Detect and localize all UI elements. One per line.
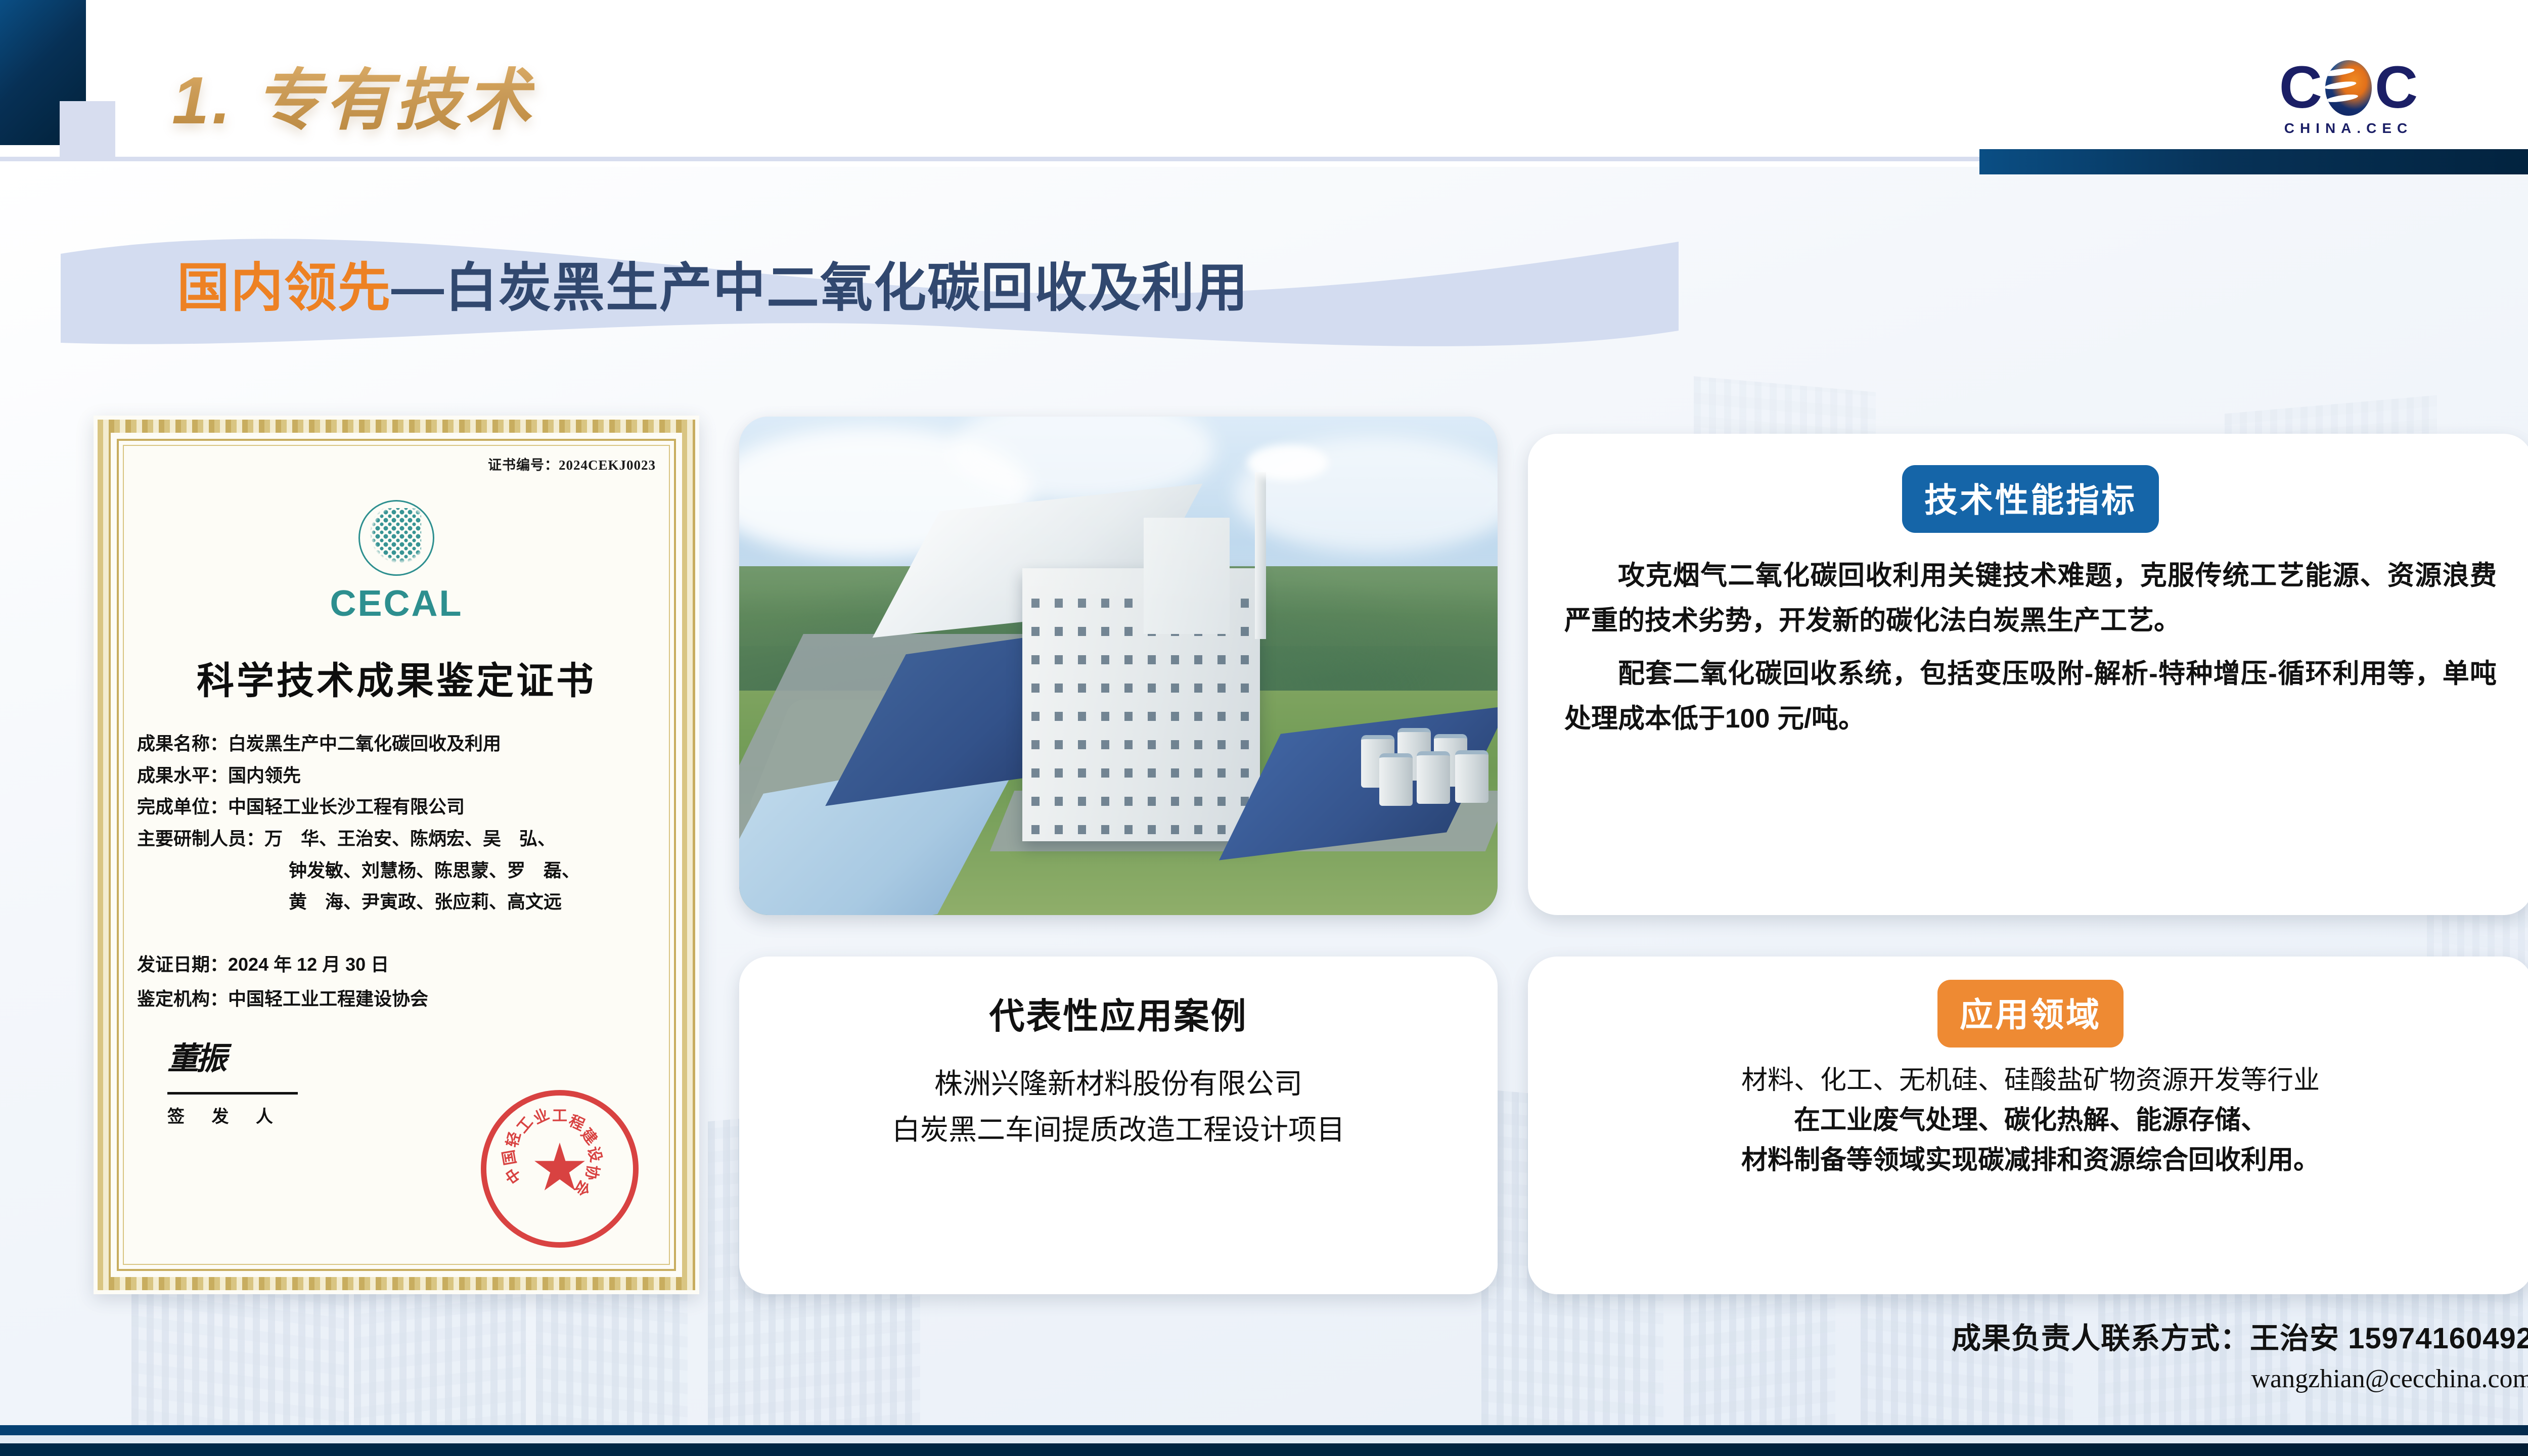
application-domain-body: 材料、化工、无机硅、硅酸盐矿物资源开发等行业 在工业废气处理、碳化热解、能源存储…: [1528, 1048, 2528, 1180]
cecal-emblem-icon: [358, 500, 434, 576]
official-seal-icon: 中国轻工业工程建设协会: [481, 1090, 639, 1248]
issue-date-row: 发证日期：2024 年 12 月 30 日: [137, 947, 656, 982]
tech-paragraph: 攻克烟气二氧化碳回收利用关键技术难题，克服传统工艺能源、资源浪费严重的技术劣势，…: [1564, 553, 2497, 643]
application-case-body: 株洲兴隆新材料股份有限公司 白炭黑二车间提质改造工程设计项目: [739, 1039, 1498, 1153]
authority-value: 中国轻工业工程建设协会: [228, 988, 428, 1009]
certificate-field-row: 完成单位：中国轻工业长沙工程有限公司: [137, 791, 656, 823]
certificate-fields: 成果名称：白炭黑生产中二氧化碳回收及利用 成果水平：国内领先 完成单位：中国轻工…: [137, 728, 656, 918]
issue-date-label: 发证日期：: [137, 954, 228, 975]
researchers-label: 主要研制人员：: [137, 828, 264, 849]
application-case-card: 代表性应用案例 株洲兴隆新材料股份有限公司 白炭黑二车间提质改造工程设计项目: [739, 957, 1498, 1294]
cec-logo: C C CHINA.CEC: [2265, 60, 2432, 146]
certificate-field-row: 成果水平：国内领先: [137, 760, 656, 792]
banner-rest: —白炭黑生产中二氧化碳回收及利用: [391, 259, 1249, 317]
field-label: 成果水平：: [137, 765, 228, 786]
cecal-wordmark: CECAL: [137, 583, 656, 624]
tech-indicators-card: 技术性能指标 攻克烟气二氧化碳回收利用关键技术难题，克服传统工艺能源、资源浪费严…: [1528, 434, 2528, 915]
page-title: 1. 专有技术: [172, 47, 534, 143]
domain-chip-wrap: 应用领域: [1528, 957, 2528, 1048]
seal-ring-text: 中国轻工业工程建设协会: [486, 1096, 633, 1242]
certificate-number-label: 证书编号：: [488, 458, 559, 473]
tech-paragraph: 配套二氧化碳回收系统，包括变压吸附-解析-特种增压-循环利用等，单吨处理成本低于…: [1564, 651, 2497, 741]
application-case-title: 代表性应用案例: [739, 957, 1498, 1039]
factory-aerial-photo[interactable]: [739, 417, 1498, 915]
tech-indicators-chip: 技术性能指标: [1902, 465, 2159, 533]
domain-line: 在工业废气处理、碳化热解、能源存储、: [1558, 1101, 2503, 1141]
signature-script: 董振: [167, 1030, 656, 1089]
researchers-line: 钟发敏、刘慧杨、陈思蒙、罗 磊、: [137, 855, 656, 887]
field-value: 国内领先: [228, 765, 301, 786]
cecal-dots: [366, 508, 421, 568]
case-line: 株洲兴隆新材料股份有限公司: [770, 1061, 1467, 1107]
researchers-line: 万 华、王治安、陈炳宏、吴 弘、: [264, 828, 556, 849]
field-value: 中国轻工业长沙工程有限公司: [228, 796, 465, 817]
application-domain-chip: 应用领域: [1937, 980, 2124, 1048]
application-domain-card: 应用领域 材料、化工、无机硅、硅酸盐矿物资源开发等行业 在工业废气处理、碳化热解…: [1528, 957, 2528, 1294]
logo-letter-left: C: [2279, 63, 2322, 113]
header-divider-rule: [0, 157, 2073, 161]
footer-bar-secondary: [0, 1443, 2528, 1456]
certificate-field-row: 成果名称：白炭黑生产中二氧化碳回收及利用: [137, 728, 656, 760]
authority-label: 鉴定机构：: [137, 988, 228, 1009]
field-label: 完成单位：: [137, 796, 228, 817]
contact-email-line: wangzhian@cecchina.com: [1577, 1364, 2528, 1394]
domain-line: 材料、化工、无机硅、硅酸盐矿物资源开发等行业: [1558, 1061, 2503, 1101]
authority-row: 鉴定机构：中国轻工业工程建设协会: [137, 982, 656, 1016]
case-line: 白炭黑二车间提质改造工程设计项目: [770, 1107, 1467, 1153]
certificate-researchers-row: 主要研制人员：万 华、王治安、陈炳宏、吴 弘、: [137, 823, 656, 855]
certificate-title: 科学技术成果鉴定证书: [137, 651, 656, 705]
logo-letter-right: C: [2375, 63, 2418, 113]
globe-icon: [2325, 60, 2372, 116]
field-label: 成果名称：: [137, 733, 228, 754]
footer-bar-gap: [0, 1435, 2528, 1443]
issue-date-value: 2024 年 12 月 30 日: [228, 954, 389, 975]
logo-subtitle: CHINA.CEC: [2265, 120, 2432, 136]
photo-haze-overlay: [739, 417, 1498, 915]
researchers-line: 黄 海、尹寅政、张应莉、高文远: [137, 886, 656, 918]
section-banner-ribbon: 国内领先—白炭黑生产中二氧化碳回收及利用: [61, 222, 1679, 364]
tech-chip-wrap: 技术性能指标: [1528, 434, 2528, 533]
certificate-number-row: 证书编号：2024CEKJ0023: [137, 454, 656, 474]
contact-owner-line: 成果负责人联系方式：王治安 15974160492: [1577, 1314, 2528, 1357]
domain-line: 材料制备等领域实现碳减排和资源综合回收利用。: [1558, 1141, 2503, 1180]
contact-block: 成果负责人联系方式：王治安 15974160492 wangzhian@cecc…: [1577, 1314, 2528, 1394]
banner-highlight: 国内领先: [177, 259, 391, 317]
signature-rule: [167, 1092, 298, 1095]
header-bar-right: [1979, 149, 2528, 174]
header-accent-square: [60, 101, 115, 158]
banner-text: 国内领先—白炭黑生产中二氧化碳回收及利用: [177, 262, 1249, 314]
slide-root: 1. 专有技术 C C CHINA.CEC 国内领先—白炭黑生产中二氧化碳回收及…: [0, 0, 2528, 1456]
tech-indicators-body: 攻克烟气二氧化碳回收利用关键技术难题，克服传统工艺能源、资源浪费严重的技术劣势，…: [1528, 533, 2528, 741]
certificate-image[interactable]: 证书编号：2024CEKJ0023 CECAL 科学技术成果鉴定证书 成果名称：…: [94, 416, 699, 1294]
certificate-number-value: 2024CEKJ0023: [559, 458, 656, 473]
field-value: 白炭黑生产中二氧化碳回收及利用: [228, 733, 501, 754]
footer-bar-primary: [0, 1425, 2528, 1435]
